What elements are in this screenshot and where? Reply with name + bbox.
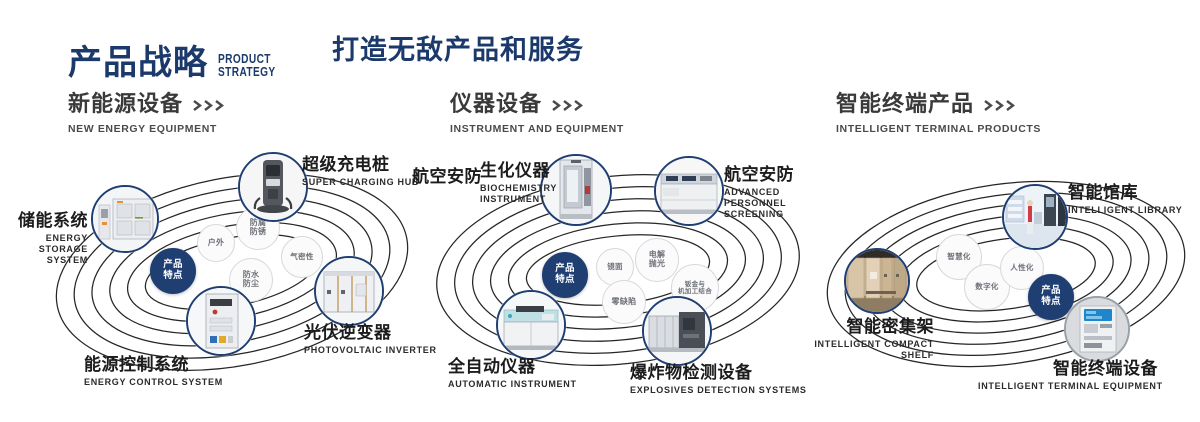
node-label-photovoltaic-inverter: 光伏逆变器 PHOTOVOLTAIC INVERTER (304, 324, 437, 356)
node-label-energy-storage-system: 储能系统 ENERGY STORAGE SYSTEM (0, 212, 88, 266)
intelligent-library-photo (1004, 186, 1066, 248)
node-label-intelligent-compact-shelf: 智能密集架 INTELLIGENT COMPACT SHELF (754, 318, 934, 361)
node-label-cn: 生化仪器 (480, 162, 557, 181)
node-label-cn: 光伏逆变器 (304, 324, 437, 343)
node-label-en: BIOCHEMISTRY INSTRUMENT (480, 183, 557, 205)
page-title: 产品战略 PRODUCT STRATEGY (68, 28, 292, 80)
feature-bubble-zero-defect[interactable]: 零缺陷 (602, 280, 646, 324)
section-heading-intelligent-terminal: 智能终端产品 INTELLIGENT TERMINAL PRODUCTS (836, 93, 1041, 135)
node-label-cn: 全自动仪器 (448, 358, 577, 377)
section-heading-cn: 智能终端产品 (836, 93, 1041, 117)
section-heading-label: 仪器设备 (450, 93, 542, 117)
charging-pile-photo (240, 154, 306, 220)
node-label-explosives-detection-systems: 爆炸物检测设备 EXPLOSIVES DETECTION SYSTEMS (630, 364, 807, 396)
feature-bubble-line2: 防锈 (250, 228, 267, 237)
feature-bubble-line1: 气密性 (290, 253, 313, 261)
node-explosives-detection-systems[interactable] (642, 296, 712, 366)
node-label-intelligent-terminal-equipment: 智能终端设备 INTELLIGENT TERMINAL EQUIPMENT (978, 360, 1158, 392)
node-energy-control-system[interactable] (186, 286, 256, 356)
node-energy-storage-system[interactable] (91, 185, 159, 253)
orbit-group-intelligent-terminal: 智慧化 数字化 人性化 产品 特点 (818, 170, 1193, 395)
node-label-cn: 航空安防 (412, 168, 482, 187)
explosives-detection-photo (644, 298, 710, 364)
feature-bubble-line2: 抛光 (649, 260, 666, 269)
node-photovoltaic-inverter[interactable] (314, 256, 384, 326)
node-label-intelligent-library: 智能馆库 INTELLIGENT LIBRARY (1068, 184, 1182, 216)
node-label-biochemistry-instrument: 生化仪器 BIOCHEMISTRY INSTRUMENT (480, 162, 557, 205)
feature-bubble-line2: 机加工结合 (678, 288, 712, 295)
section-heading-new-energy: 新能源设备 NEW ENERGY EQUIPMENT (68, 93, 228, 135)
node-automatic-instrument[interactable] (496, 290, 566, 360)
section-heading-instrument: 仪器设备 INSTRUMENT AND EQUIPMENT (450, 93, 624, 135)
brand-title-cn: 产品战略 (68, 46, 208, 80)
node-label-en: ADVANCED PERSONNEL SCREENING (724, 187, 803, 220)
core-bubble-line2: 特点 (163, 271, 183, 282)
chevron-right-triple-icon (192, 99, 228, 112)
node-intelligent-compact-shelf[interactable] (844, 248, 910, 314)
section-heading-label: 新能源设备 (68, 93, 183, 117)
node-label-en: ENERGY STORAGE SYSTEM (0, 233, 88, 266)
node-label-cn: 储能系统 (0, 212, 88, 231)
node-label-cn: 航空安防 (724, 166, 803, 185)
section-heading-label: 智能终端产品 (836, 93, 974, 117)
brand-title-en-line2: STRATEGY (218, 65, 276, 78)
node-intelligent-terminal-equipment[interactable] (1064, 296, 1130, 362)
node-label-en: INTELLIGENT COMPACT SHELF (754, 339, 934, 361)
node-label-cn: 爆炸物检测设备 (630, 364, 807, 383)
section-heading-cn: 仪器设备 (450, 93, 624, 117)
core-bubble-line2: 特点 (1041, 297, 1061, 308)
feature-bubble-line1: 户外 (208, 239, 225, 248)
node-label-cn: 能源控制系统 (84, 356, 223, 375)
node-label-cn: 智能馆库 (1068, 184, 1182, 203)
node-label-super-charging-hub: 超级充电桩 SUPER CHARGING HUB (302, 156, 419, 188)
energy-control-cabinet-photo (188, 288, 254, 354)
node-label-en: EXPLOSIVES DETECTION SYSTEMS (630, 385, 807, 396)
feature-bubble-line1: 镜面 (607, 263, 623, 271)
node-label-automatic-instrument: 全自动仪器 AUTOMATIC INSTRUMENT (448, 358, 577, 390)
orbit-group-instrument: 产品 特点 镜面 电解 抛光 零缺陷 钣金与 机加工结合 (428, 160, 803, 385)
section-heading-cn: 新能源设备 (68, 93, 228, 117)
product-strategy-infographic: 产品战略 PRODUCT STRATEGY 打造无敌产品和服务 新能源设备 NE… (0, 0, 1200, 422)
section-heading-en: INTELLIGENT TERMINAL PRODUCTS (836, 123, 1041, 135)
feature-bubble-line1: 数字化 (975, 283, 998, 291)
node-label-cn: 智能密集架 (754, 318, 934, 337)
feature-bubble-line1: 人性化 (1010, 264, 1033, 272)
compact-shelf-photo (846, 250, 908, 312)
feature-bubble-line1: 智慧化 (947, 253, 970, 261)
personnel-screening-photo (656, 158, 722, 224)
section-heading-en: NEW ENERGY EQUIPMENT (68, 123, 228, 135)
section-heading-en: INSTRUMENT AND EQUIPMENT (450, 123, 624, 135)
node-label-cn: 智能终端设备 (978, 360, 1158, 379)
photovoltaic-inverter-photo (316, 258, 382, 324)
node-intelligent-library[interactable] (1002, 184, 1068, 250)
node-super-charging-hub[interactable] (238, 152, 308, 222)
automatic-instrument-photo (498, 292, 564, 358)
node-advanced-personnel-screening[interactable] (654, 156, 724, 226)
node-label-cn: 超级充电桩 (302, 156, 419, 175)
chevron-right-triple-icon (551, 99, 587, 112)
node-label-advanced-personnel-screening: 航空安防 ADVANCED PERSONNEL SCREENING (724, 166, 803, 220)
orbit-group-new-energy: 产品 特点 户外 防腐 防锈 防水 防尘 气密性 (46, 160, 416, 385)
headline: 打造无敌产品和服务 (332, 36, 584, 66)
intelligent-terminal-kiosk-photo (1066, 298, 1128, 360)
node-label-en: PHOTOVOLTAIC INVERTER (304, 345, 437, 356)
feature-bubble-outdoor[interactable]: 户外 (197, 224, 235, 262)
feature-bubble-electropolishing[interactable]: 电解 抛光 (635, 238, 679, 282)
node-label-en: AUTOMATIC INSTRUMENT (448, 379, 577, 390)
chevron-right-triple-icon (983, 99, 1019, 112)
energy-storage-cabinet-photo (93, 187, 157, 251)
node-label-en: ENERGY CONTROL SYSTEM (84, 377, 223, 388)
node-label-energy-control-system: 能源控制系统 ENERGY CONTROL SYSTEM (84, 356, 223, 388)
node-label-en: INTELLIGENT LIBRARY (1068, 205, 1182, 216)
node-label-en: SUPER CHARGING HUB (302, 177, 419, 188)
node-label-en: INTELLIGENT TERMINAL EQUIPMENT (978, 381, 1158, 392)
brand-title-en: PRODUCT STRATEGY (218, 52, 276, 78)
node-label-aviation-security-secondary: 航空安防 (412, 168, 482, 187)
feature-bubble-line1: 零缺陷 (612, 298, 637, 307)
core-bubble-line2: 特点 (555, 275, 575, 286)
